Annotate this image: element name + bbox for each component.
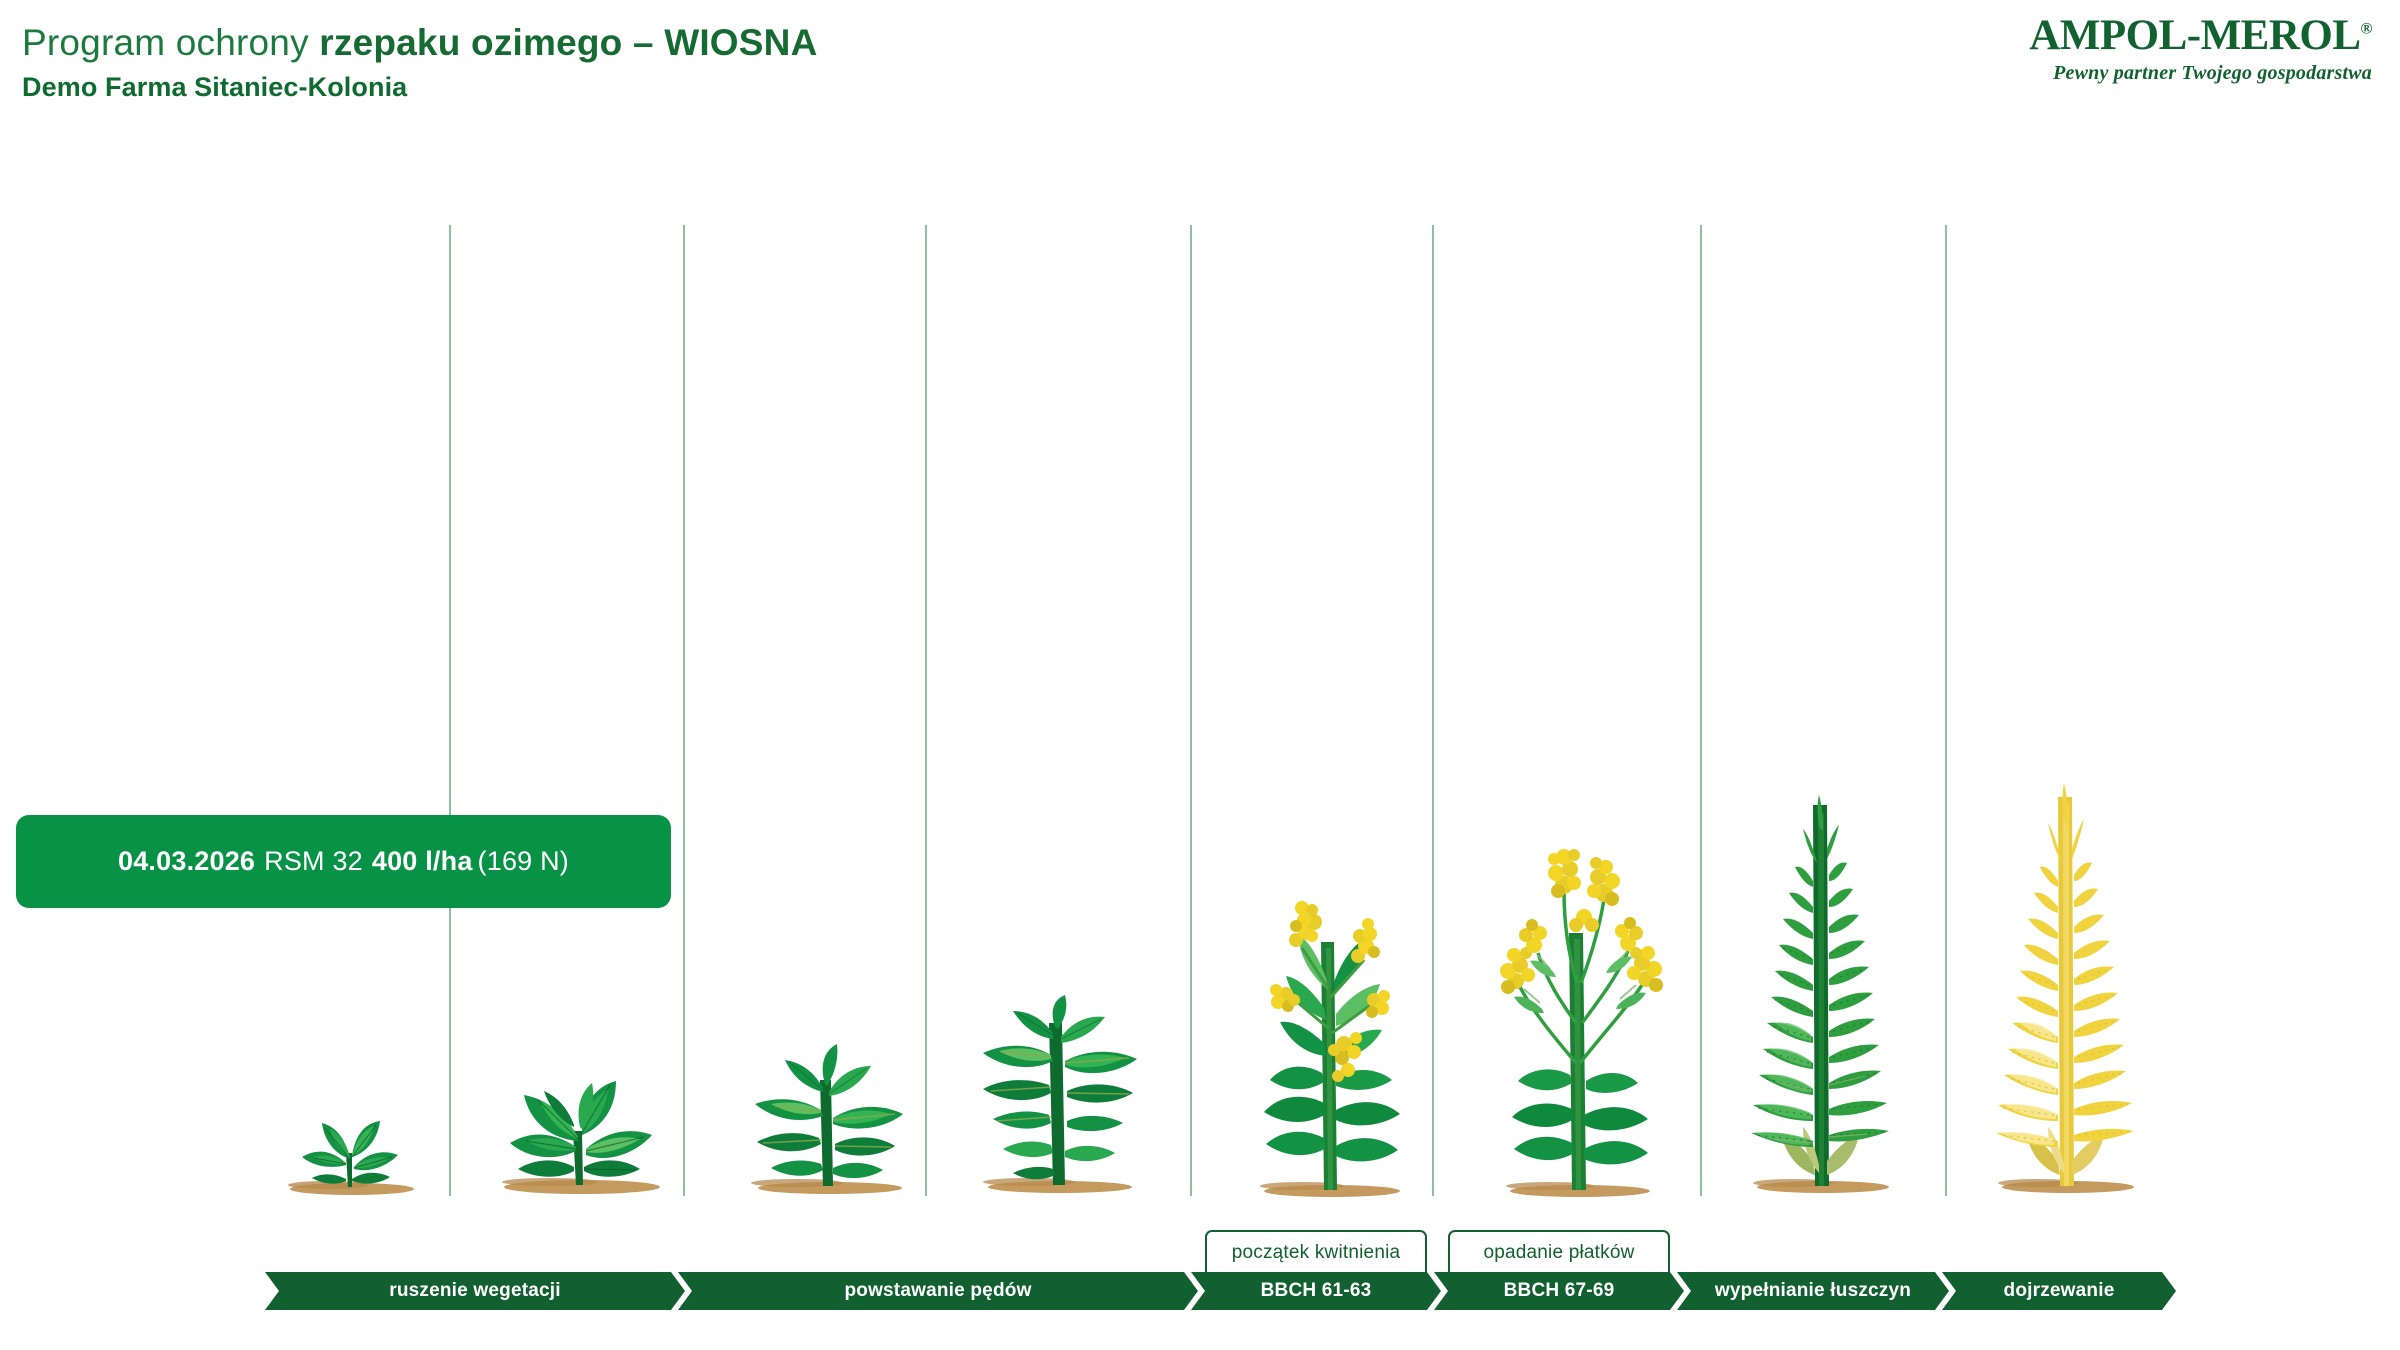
stage-divider	[683, 225, 685, 1196]
stage-divider	[925, 225, 927, 1196]
tooltip-label: opadanie płatków	[1483, 1242, 1634, 1264]
tooltip-label: początek kwitnienia	[1232, 1242, 1401, 1264]
stage-label: BBCH 67-69	[1504, 1280, 1615, 1302]
stage-chevron-bbch-67-69[interactable]: BBCH 67-69	[1434, 1272, 1684, 1310]
stage-chevron-dojrzewanie[interactable]: dojrzewanie	[1942, 1272, 2176, 1310]
stage-chevron-bbch-61-63[interactable]: BBCH 61-63	[1191, 1272, 1441, 1310]
treatment-date: 04.03.2026	[118, 846, 255, 877]
stage-label: powstawanie pędów	[844, 1280, 1031, 1302]
stage-divider	[1945, 225, 1947, 1196]
treatment-application-box[interactable]: 04.03.2026 RSM 32 400 l/ha (169 N)	[16, 815, 671, 908]
plant-illustration-pod-filling	[1735, 775, 1910, 1195]
stage-divider	[449, 225, 451, 1196]
stage-chevron-powstawanie-pedow[interactable]: powstawanie pędów	[678, 1272, 1198, 1310]
stage-divider	[1190, 225, 1192, 1196]
stage-tooltip-poczatek-kwitnienia: początek kwitnienia	[1205, 1230, 1427, 1274]
stage-label: wypełnianie łuszczyn	[1715, 1280, 1911, 1302]
plant-illustration-rosette-seedling	[280, 1105, 420, 1195]
plant-illustration-petal-fall	[1480, 813, 1680, 1198]
stage-label: ruszenie wegetacji	[389, 1280, 561, 1302]
growth-stage-bar: ruszenie wegetacji powstawanie pędów poc…	[0, 1230, 2400, 1325]
treatment-product: RSM 32	[264, 846, 363, 877]
stage-divider	[1700, 225, 1702, 1196]
plant-illustration-flowering-start	[1240, 878, 1425, 1198]
treatment-nitrogen: (169 N)	[478, 846, 569, 877]
stage-chevron-wypelnianie-luszczyn[interactable]: wypełnianie łuszczyn	[1677, 1272, 1949, 1310]
stage-label: dojrzewanie	[2004, 1280, 2115, 1302]
treatment-dose: 400 l/ha	[372, 846, 473, 877]
plant-illustration-rosette-large	[490, 1075, 665, 1195]
plant-illustration-stem-elongation-late	[965, 995, 1150, 1195]
plant-illustration-ripening	[1980, 775, 2155, 1195]
stage-divider	[1432, 225, 1434, 1196]
timeline-canvas: 04.03.2026 RSM 32 400 l/ha (169 N)	[0, 0, 2400, 1350]
stage-chevron-ruszenie-wegetacji[interactable]: ruszenie wegetacji	[265, 1272, 685, 1310]
stage-label: BBCH 61-63	[1261, 1280, 1372, 1302]
stage-tooltip-opadanie-platkow: opadanie płatków	[1448, 1230, 1670, 1274]
plant-illustration-stem-elongation-early	[735, 1040, 915, 1195]
